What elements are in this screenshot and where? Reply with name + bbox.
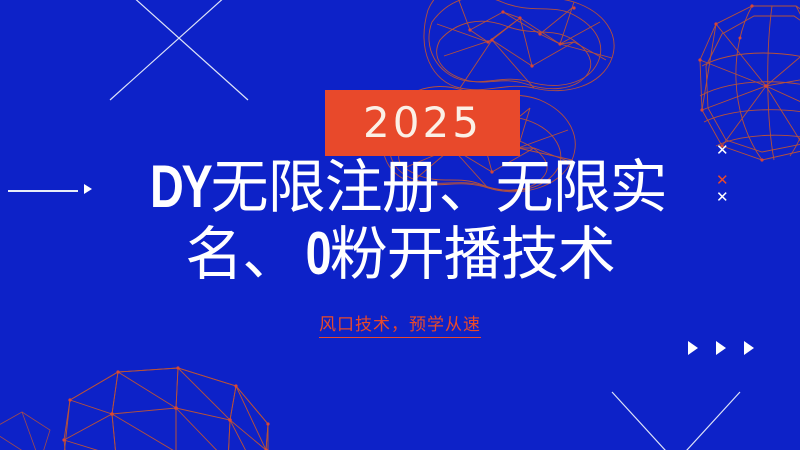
page-title: DY无限注册、无限实 名、0粉开播技术 xyxy=(0,156,800,284)
headline-latin-zero: 0 xyxy=(306,223,330,284)
play-triangle-icon-2 xyxy=(716,341,726,355)
x-mark-icon-white-bottom: ✕ xyxy=(716,190,729,205)
headline-line-2: 名、0粉开播技术 xyxy=(0,223,800,284)
x-cross-lines xyxy=(110,0,248,100)
mesh-wisp-bottom-left xyxy=(0,412,50,450)
year-badge-label: 2025 xyxy=(363,102,482,144)
headline-cn-2b: 粉开播技术 xyxy=(330,222,615,287)
headline-latin-dy: DY xyxy=(150,156,210,217)
organic-mesh-blobs xyxy=(424,0,614,91)
promo-poster: 2025 DY无限注册、无限实 名、0粉开播技术 风口技术，预学从速 ✕ ✕ ✕ xyxy=(0,0,800,450)
play-triangle-icon-3 xyxy=(744,341,754,355)
subtitle-label: 风口技术，预学从速 xyxy=(319,310,481,338)
v-shape-lines xyxy=(612,392,740,450)
play-triangle-icon-1 xyxy=(688,341,698,355)
x-mark-icon-white-top: ✕ xyxy=(716,143,729,158)
year-badge: 2025 xyxy=(325,90,520,156)
headline-cn-1: 无限注册、无限实 xyxy=(211,155,667,220)
headline-line-1: DY无限注册、无限实 xyxy=(0,156,800,217)
headline-cn-2a: 名、 xyxy=(185,222,299,287)
x-mark-icon-orange: ✕ xyxy=(716,173,729,188)
geodesic-sphere xyxy=(62,366,269,450)
subtitle: 风口技术，预学从速 xyxy=(0,310,800,338)
faceted-polygon-ball xyxy=(698,4,800,161)
